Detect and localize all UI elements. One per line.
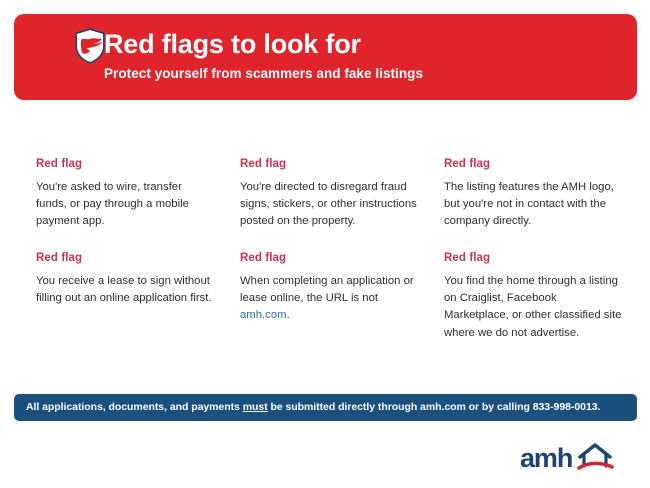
footer-emphasis-must: must (243, 401, 268, 413)
amh-wordmark: amh (520, 443, 572, 473)
red-flag-body: You're asked to wire, transfer funds, or… (36, 179, 214, 230)
red-flag-grid: Red flag You're asked to wire, transfer … (36, 158, 622, 342)
red-swoosh-icon (579, 463, 612, 468)
amh-logo: amh (520, 440, 628, 476)
page-subtitle: Protect yourself from scammers and fake … (104, 66, 423, 82)
header-text-block: Red flags to look for Protect yourself f… (104, 30, 423, 85)
footer-notice-text: All applications, documents, and payment… (26, 402, 600, 414)
red-flag-label: Red flag (240, 252, 440, 266)
page-title: Red flags to look for (104, 30, 423, 60)
red-flag-label: Red flag (36, 252, 236, 266)
footer-text-part-1: All applications, documents, and payment… (26, 401, 243, 413)
red-flag-body: You find the home through a listing on C… (444, 273, 622, 342)
header-banner: Red flags to look for Protect yourself f… (14, 14, 637, 100)
red-flag-card-5: Red flag When completing an application … (240, 252, 440, 341)
red-flag-card-4: Red flag You receive a lease to sign wit… (36, 252, 236, 341)
footer-text-part-2: be submitted directly through amh.com or… (268, 401, 601, 413)
red-flag-body: You're directed to disregard fraud signs… (240, 179, 418, 230)
red-flag-label: Red flag (36, 158, 236, 172)
footer-notice-bar: All applications, documents, and payment… (14, 394, 637, 421)
amh-com-link[interactable]: amh.com (240, 309, 287, 321)
red-flag-card-1: Red flag You're asked to wire, transfer … (36, 158, 236, 230)
red-flag-card-2: Red flag You're directed to disregard fr… (240, 158, 440, 230)
red-flag-card-3: Red flag The listing features the AMH lo… (444, 158, 630, 230)
red-flag-body-text-after: . (287, 309, 290, 321)
red-flag-label: Red flag (444, 158, 630, 172)
red-flag-body: The listing features the AMH logo, but y… (444, 179, 622, 230)
red-flag-label: Red flag (240, 158, 440, 172)
shield-flag-icon (36, 28, 90, 88)
red-flag-body: You receive a lease to sign without fill… (36, 273, 214, 307)
red-flag-body-text-before: When completing an application or lease … (240, 275, 414, 304)
red-flag-label: Red flag (444, 252, 630, 266)
red-flag-body: When completing an application or lease … (240, 273, 418, 324)
red-flag-card-6: Red flag You find the home through a lis… (444, 252, 630, 341)
poster-page: Red flags to look for Protect yourself f… (0, 0, 650, 488)
